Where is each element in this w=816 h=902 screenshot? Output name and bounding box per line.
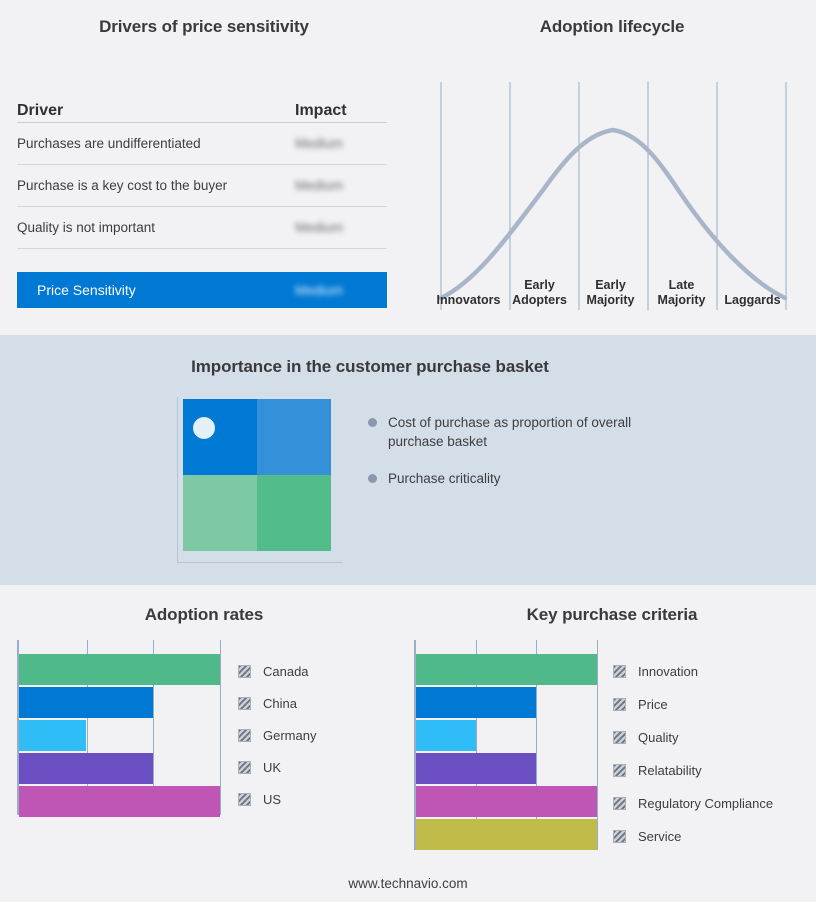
hatched-swatch-icon bbox=[238, 761, 251, 774]
bar-germany bbox=[19, 720, 86, 751]
price-sensitivity-summary-row: Price Sensitivity Medium bbox=[17, 272, 387, 308]
driver-impact-redacted: Medium bbox=[295, 220, 387, 235]
lifecycle-stage-laggards: Laggards bbox=[717, 255, 788, 310]
gridline bbox=[220, 640, 221, 815]
column-header-impact: Impact bbox=[295, 102, 387, 120]
drivers-panel-title: Drivers of price sensitivity bbox=[0, 17, 408, 37]
legend-label: Price bbox=[638, 697, 668, 712]
key-criteria-chart bbox=[414, 640, 604, 850]
legend-label: China bbox=[263, 696, 297, 711]
bar-regulatory-compliance bbox=[416, 786, 597, 817]
hatched-swatch-icon bbox=[613, 731, 626, 744]
legend-label: Cost of purchase as proportion of overal… bbox=[388, 413, 648, 451]
bar-innovation bbox=[416, 654, 597, 685]
legend-label: UK bbox=[263, 760, 281, 775]
adoption-rates-chart bbox=[17, 640, 227, 815]
key-criteria-title: Key purchase criteria bbox=[408, 605, 816, 625]
matrix-quadrant-top-right bbox=[257, 399, 331, 475]
gridline bbox=[597, 640, 598, 850]
driver-name: Quality is not important bbox=[17, 220, 295, 235]
purchase-basket-panel: Importance in the customer purchase bask… bbox=[0, 335, 816, 585]
purchase-basket-matrix bbox=[177, 397, 343, 563]
table-row: Purchases are undifferentiated Medium bbox=[17, 123, 387, 165]
legend-item: Germany bbox=[238, 719, 316, 751]
legend-item: Quality bbox=[613, 721, 773, 754]
bar-uk bbox=[19, 753, 153, 784]
bullet-icon bbox=[368, 418, 377, 427]
hatched-swatch-icon bbox=[238, 697, 251, 710]
legend-item: US bbox=[238, 783, 316, 815]
driver-name: Purchases are undifferentiated bbox=[17, 136, 295, 151]
adoption-rates-legend: Canada China Germany UK US bbox=[238, 655, 316, 815]
table-row: Purchase is a key cost to the buyer Medi… bbox=[17, 165, 387, 207]
key-criteria-legend: Innovation Price Quality Relatability Re… bbox=[613, 655, 773, 853]
legend-label: US bbox=[263, 792, 281, 807]
hatched-swatch-icon bbox=[238, 793, 251, 806]
drivers-table: Driver Impact Purchases are undifferenti… bbox=[17, 90, 387, 249]
plot-area bbox=[17, 640, 223, 815]
lifecycle-stage-text: Laggards bbox=[724, 293, 780, 308]
matrix-x-axis bbox=[177, 562, 343, 563]
legend-item: China bbox=[238, 687, 316, 719]
adoption-rates-title: Adoption rates bbox=[0, 605, 408, 625]
basket-panel-title: Importance in the customer purchase bask… bbox=[0, 357, 740, 377]
legend-label: Service bbox=[638, 829, 681, 844]
watermark: www.technavio.com bbox=[0, 876, 816, 891]
legend-item: Purchase criticality bbox=[368, 469, 668, 488]
key-purchase-criteria-panel: Key purchase criteria bbox=[408, 585, 816, 902]
hatched-swatch-icon bbox=[613, 698, 626, 711]
legend-label: Quality bbox=[638, 730, 678, 745]
lifecycle-stage-late-majority: Late Majority bbox=[646, 255, 717, 310]
table-row: Quality is not important Medium bbox=[17, 207, 387, 249]
lifecycle-stage-early-adopters: Early Adopters bbox=[504, 255, 575, 310]
bar-china bbox=[19, 687, 153, 718]
legend-item: Innovation bbox=[613, 655, 773, 688]
bullet-icon bbox=[368, 474, 377, 483]
bar-relatability bbox=[416, 753, 536, 784]
matrix-y-axis bbox=[177, 397, 178, 563]
driver-name: Purchase is a key cost to the buyer bbox=[17, 178, 295, 193]
drivers-table-header: Driver Impact bbox=[17, 90, 387, 123]
hatched-swatch-icon bbox=[613, 797, 626, 810]
legend-label: Innovation bbox=[638, 664, 698, 679]
top-band: Drivers of price sensitivity Driver Impa… bbox=[0, 0, 816, 335]
plot-area bbox=[414, 640, 600, 850]
lifecycle-stage-text: Innovators bbox=[437, 293, 501, 308]
lifecycle-stage-labels: Innovators Early Adopters Early Majority bbox=[433, 255, 788, 310]
legend-item: Price bbox=[613, 688, 773, 721]
infographic-page: Drivers of price sensitivity Driver Impa… bbox=[0, 0, 816, 902]
legend-label: Regulatory Compliance bbox=[638, 796, 773, 811]
bar-service bbox=[416, 819, 597, 850]
adoption-lifecycle-panel: Adoption lifecycle Innovators bbox=[408, 0, 816, 335]
summary-row-impact-redacted: Medium bbox=[295, 283, 387, 298]
bar-quality bbox=[416, 720, 476, 751]
adoption-rates-panel: Adoption rates Canada bbox=[0, 585, 408, 902]
matrix-quadrant-bottom-left bbox=[183, 475, 257, 551]
legend-item: Relatability bbox=[613, 754, 773, 787]
bar-price bbox=[416, 687, 536, 718]
lifecycle-stage-early-majority: Early Majority bbox=[575, 255, 646, 310]
matrix-position-marker bbox=[193, 417, 215, 439]
hatched-swatch-icon bbox=[238, 729, 251, 742]
basket-legend: Cost of purchase as proportion of overal… bbox=[368, 413, 668, 506]
drivers-panel: Drivers of price sensitivity Driver Impa… bbox=[0, 0, 408, 335]
hatched-swatch-icon bbox=[238, 665, 251, 678]
legend-item: Canada bbox=[238, 655, 316, 687]
lifecycle-panel-title: Adoption lifecycle bbox=[408, 17, 816, 37]
legend-label: Germany bbox=[263, 728, 316, 743]
lifecycle-stage-text: Late Majority bbox=[658, 278, 706, 307]
bottom-band: Adoption rates Canada bbox=[0, 585, 816, 902]
hatched-swatch-icon bbox=[613, 830, 626, 843]
matrix-quadrants bbox=[183, 399, 331, 551]
column-header-driver: Driver bbox=[17, 102, 295, 120]
legend-label: Purchase criticality bbox=[388, 469, 501, 488]
legend-item: Cost of purchase as proportion of overal… bbox=[368, 413, 668, 451]
legend-label: Canada bbox=[263, 664, 309, 679]
legend-item: Service bbox=[613, 820, 773, 853]
matrix-quadrant-top-left bbox=[183, 399, 257, 475]
bar-us bbox=[19, 786, 220, 817]
hatched-swatch-icon bbox=[613, 665, 626, 678]
matrix-quadrant-bottom-right bbox=[257, 475, 331, 551]
summary-row-label: Price Sensitivity bbox=[17, 282, 295, 298]
legend-label: Relatability bbox=[638, 763, 702, 778]
driver-impact-redacted: Medium bbox=[295, 178, 387, 193]
bar-canada bbox=[19, 654, 220, 685]
lifecycle-stage-text: Early Majority bbox=[587, 278, 635, 307]
lifecycle-stage-innovators: Innovators bbox=[433, 255, 504, 310]
legend-item: UK bbox=[238, 751, 316, 783]
lifecycle-stage-text: Early Adopters bbox=[512, 278, 567, 307]
legend-item: Regulatory Compliance bbox=[613, 787, 773, 820]
driver-impact-redacted: Medium bbox=[295, 136, 387, 151]
hatched-swatch-icon bbox=[613, 764, 626, 777]
